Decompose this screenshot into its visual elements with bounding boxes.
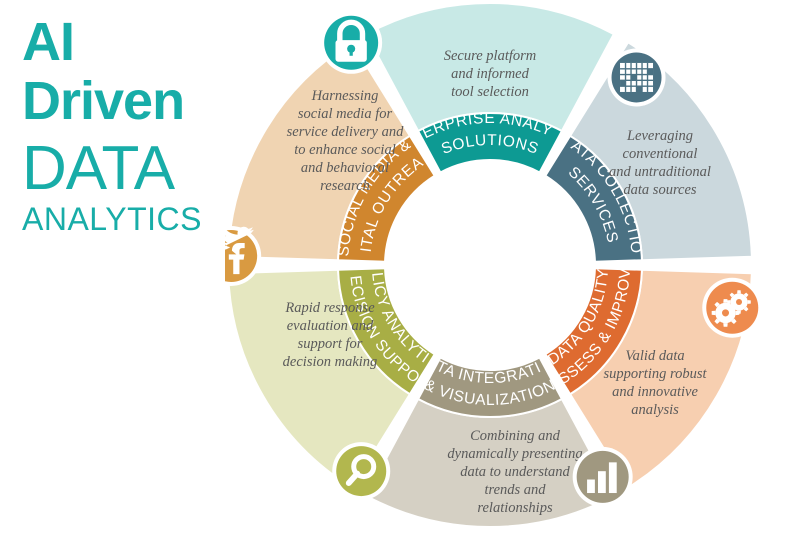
wheel-desc-enterprise-analytics-solutions: Secure platformand informedtool selectio… bbox=[444, 48, 537, 100]
lock-icon[interactable] bbox=[320, 12, 382, 74]
gears-icon[interactable] bbox=[702, 278, 762, 338]
grid-data-icon[interactable] bbox=[608, 48, 666, 106]
capability-wheel: ENTERPRISE ANALYTICSSOLUTIONSDATA COLLEC… bbox=[225, 0, 800, 534]
infographic-canvas: AI Driven DATA ANALYTICS bbox=[0, 0, 800, 534]
bar-chart-icon[interactable] bbox=[573, 447, 633, 507]
magnifier-icon[interactable] bbox=[332, 442, 390, 500]
